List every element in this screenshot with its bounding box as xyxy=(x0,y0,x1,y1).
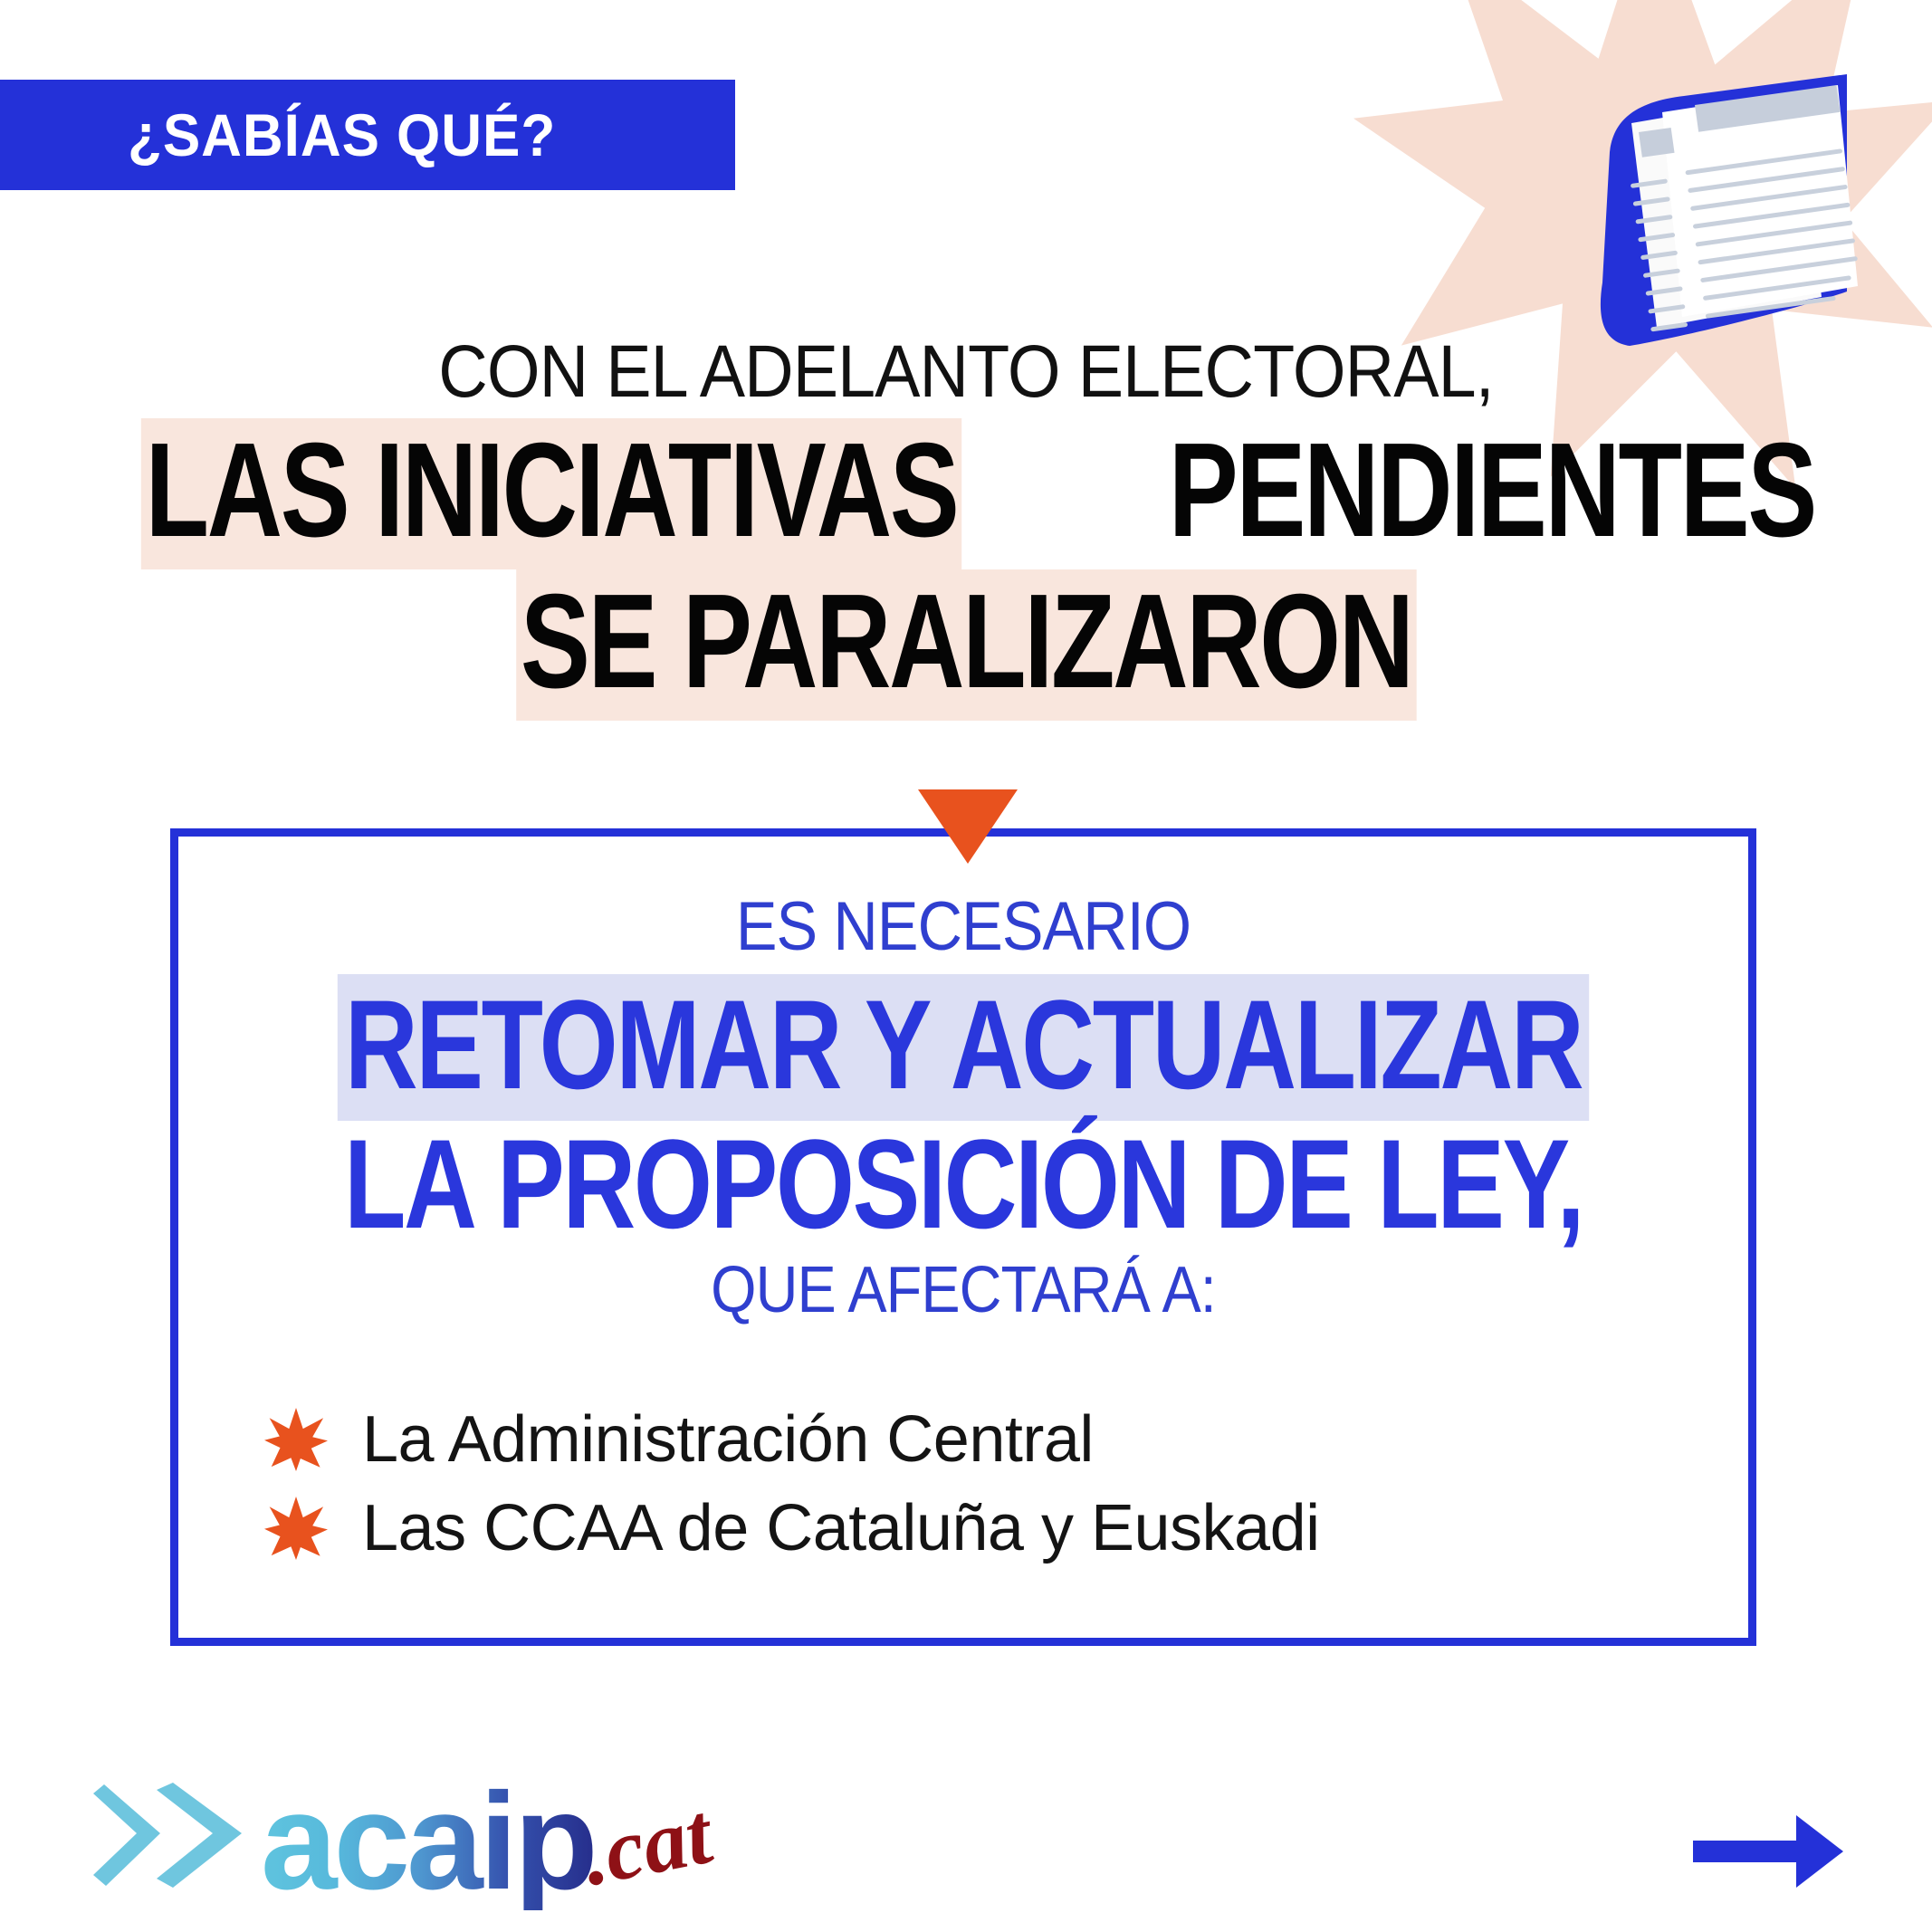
list-item-label: La Administración Central xyxy=(362,1407,1094,1472)
callout-big-line-1: RETOMAR Y ACTUALIZAR xyxy=(178,974,1748,1121)
callout-box: ES NECESARIO RETOMAR Y ACTUALIZAR LA PRO… xyxy=(170,828,1756,1646)
list-item-label: Las CCAA de Cataluña y Euskadi xyxy=(362,1496,1320,1561)
headline-line-1: CON EL ADELANTO ELECTORAL, xyxy=(77,335,1854,409)
logo-wordmark: acaip xyxy=(261,1773,595,1910)
affected-list: La Administración Central Las CCAA de Ca… xyxy=(264,1407,1320,1584)
document-illustration xyxy=(1575,54,1874,362)
list-item: La Administración Central xyxy=(264,1407,1320,1472)
did-you-know-badge: ¿SABÍAS QUÉ? xyxy=(0,80,735,190)
callout-outro: QUE AFECTARÁ A: xyxy=(257,1258,1670,1323)
headline-line-2-highlight: LAS INICIATIVAS xyxy=(141,418,961,569)
acaip-logo[interactable]: acaip .cat xyxy=(86,1767,722,1905)
badge-label: ¿SABÍAS QUÉ? xyxy=(0,100,556,169)
arrow-right-icon[interactable] xyxy=(1686,1797,1849,1906)
callout-intro: ES NECESARIO xyxy=(257,893,1670,961)
callout-big-line-2: LA PROPOSICIÓN DE LEY, xyxy=(178,1117,1748,1251)
callout-big-line-1-highlight: RETOMAR Y ACTUALIZAR xyxy=(338,974,1590,1121)
headline-line-2-rest: PENDIENTES xyxy=(1169,420,1815,562)
headline-line-3-highlight: SE PARALIZARON xyxy=(516,569,1416,721)
list-item: Las CCAA de Cataluña y Euskadi xyxy=(264,1496,1320,1561)
headline-line-3: SE PARALIZARON xyxy=(0,569,1932,721)
star-burst-bullet-icon xyxy=(264,1408,328,1471)
callout-content: ES NECESARIO RETOMAR Y ACTUALIZAR LA PRO… xyxy=(178,837,1748,1323)
headline-block: CON EL ADELANTO ELECTORAL, LAS INICIATIV… xyxy=(0,335,1932,721)
down-triangle-icon xyxy=(918,789,1018,864)
double-chevron-icon xyxy=(86,1777,253,1895)
logo-tld: .cat xyxy=(574,1783,719,1906)
infographic-poster: ¿SABÍAS QUÉ? CON EL ADELANTO ELECTORAL, … xyxy=(0,0,1932,1932)
callout-big-line-2-text: LA PROPOSICIÓN DE LEY, xyxy=(344,1117,1583,1251)
headline-line-2: LAS INICIATIVASPENDIENTES xyxy=(0,418,1932,569)
star-burst-bullet-icon xyxy=(264,1497,328,1560)
